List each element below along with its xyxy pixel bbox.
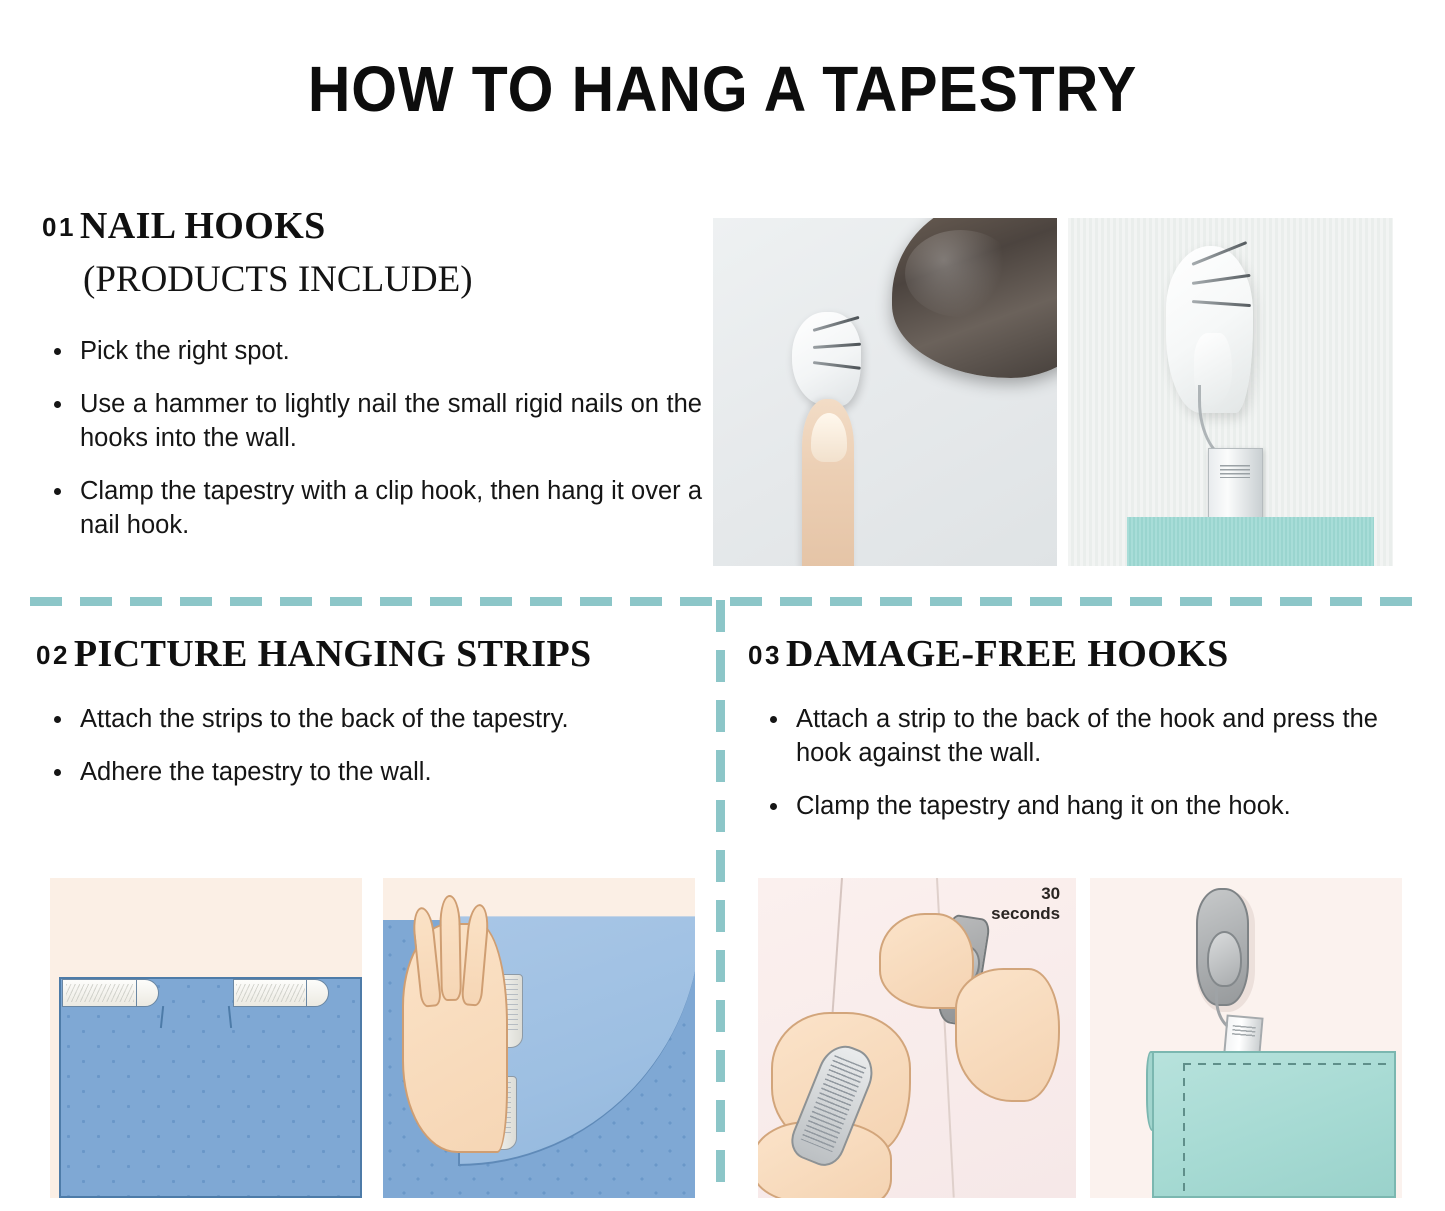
section-02-number: 02 <box>36 640 70 670</box>
section-03-bullets: Attach a strip to the back of the hook a… <box>758 702 1378 823</box>
list-item: Use a hammer to lightly nail the small r… <box>42 387 702 455</box>
hammer-head-icon <box>892 218 1057 378</box>
list-item: Attach a strip to the back of the hook a… <box>758 702 1378 770</box>
bullet-dot-icon <box>54 348 61 355</box>
bullet-dot-icon <box>54 716 61 723</box>
list-item-text: Clamp the tapestry with a clip hook, the… <box>80 477 702 539</box>
duration-number: 30 <box>991 884 1060 904</box>
section-01-subtitle: (PRODUCTS INCLUDE) <box>83 258 473 301</box>
illustration-strips-on-tapestry-back <box>50 878 362 1198</box>
illustration-press-tapestry-to-wall <box>383 878 695 1198</box>
section-01-heading: 01 NAIL HOOKS <box>42 204 326 248</box>
section-03-heading: 03 DAMAGE-FREE HOOKS <box>748 632 1229 676</box>
list-item: Pick the right spot. <box>42 334 702 368</box>
list-item-text: Pick the right spot. <box>80 337 290 365</box>
mint-tapestry-fabric <box>1127 517 1374 566</box>
illustration-press-hook-30-seconds: 30 seconds <box>758 878 1076 1198</box>
section-03-title: DAMAGE-FREE HOOKS <box>786 633 1229 675</box>
duration-unit: seconds <box>991 904 1060 924</box>
hanging-strip-icon <box>233 979 330 1007</box>
section-02-bullets: Attach the strips to the back of the tap… <box>42 702 632 789</box>
bullet-dot-icon <box>54 401 61 408</box>
hook-nails-icon <box>813 326 861 368</box>
list-item: Attach the strips to the back of the tap… <box>42 702 632 736</box>
section-02-heading: 02 PICTURE HANGING STRIPS <box>36 632 592 676</box>
duration-annotation: 30 seconds <box>991 884 1060 924</box>
section-01-number: 01 <box>42 212 76 242</box>
section-03-number: 03 <box>748 640 782 670</box>
hand-icon <box>955 968 1060 1102</box>
section-01-bullets: Pick the right spot. Use a hammer to lig… <box>42 334 702 542</box>
photo-nail-hook-clip-fabric <box>1068 218 1393 566</box>
bullet-dot-icon <box>770 803 777 810</box>
list-item: Adhere the tapestry to the wall. <box>42 755 632 789</box>
illustration-hook-with-clip-tapestry <box>1090 878 1402 1198</box>
infographic-page: HOW TO HANG A TAPESTRY 01 NAIL HOOKS (PR… <box>0 0 1445 1211</box>
photo-nail-hook-hammer <box>713 218 1057 566</box>
section-01-title: NAIL HOOKS <box>80 205 326 247</box>
vertical-dashed-divider <box>716 600 725 1196</box>
hook-nails-icon <box>1192 260 1251 309</box>
list-item: Clamp the tapestry with a clip hook, the… <box>42 474 702 542</box>
bullet-dot-icon <box>54 488 61 495</box>
list-item-text: Use a hammer to lightly nail the small r… <box>80 390 702 452</box>
mint-tapestry-fabric <box>1152 1051 1395 1198</box>
page-title: HOW TO HANG A TAPESTRY <box>58 52 1387 126</box>
list-item-text: Attach a strip to the back of the hook a… <box>796 705 1378 767</box>
bullet-dot-icon <box>54 769 61 776</box>
hanging-strip-icon <box>62 979 159 1007</box>
hand-icon <box>402 923 508 1153</box>
list-item-text: Adhere the tapestry to the wall. <box>80 758 432 786</box>
blue-tapestry <box>59 977 362 1198</box>
list-item-text: Clamp the tapestry and hang it on the ho… <box>796 792 1291 820</box>
list-item: Clamp the tapestry and hang it on the ho… <box>758 789 1378 823</box>
bullet-dot-icon <box>770 716 777 723</box>
list-item-text: Attach the strips to the back of the tap… <box>80 705 569 733</box>
section-02-title: PICTURE HANGING STRIPS <box>74 633 592 675</box>
